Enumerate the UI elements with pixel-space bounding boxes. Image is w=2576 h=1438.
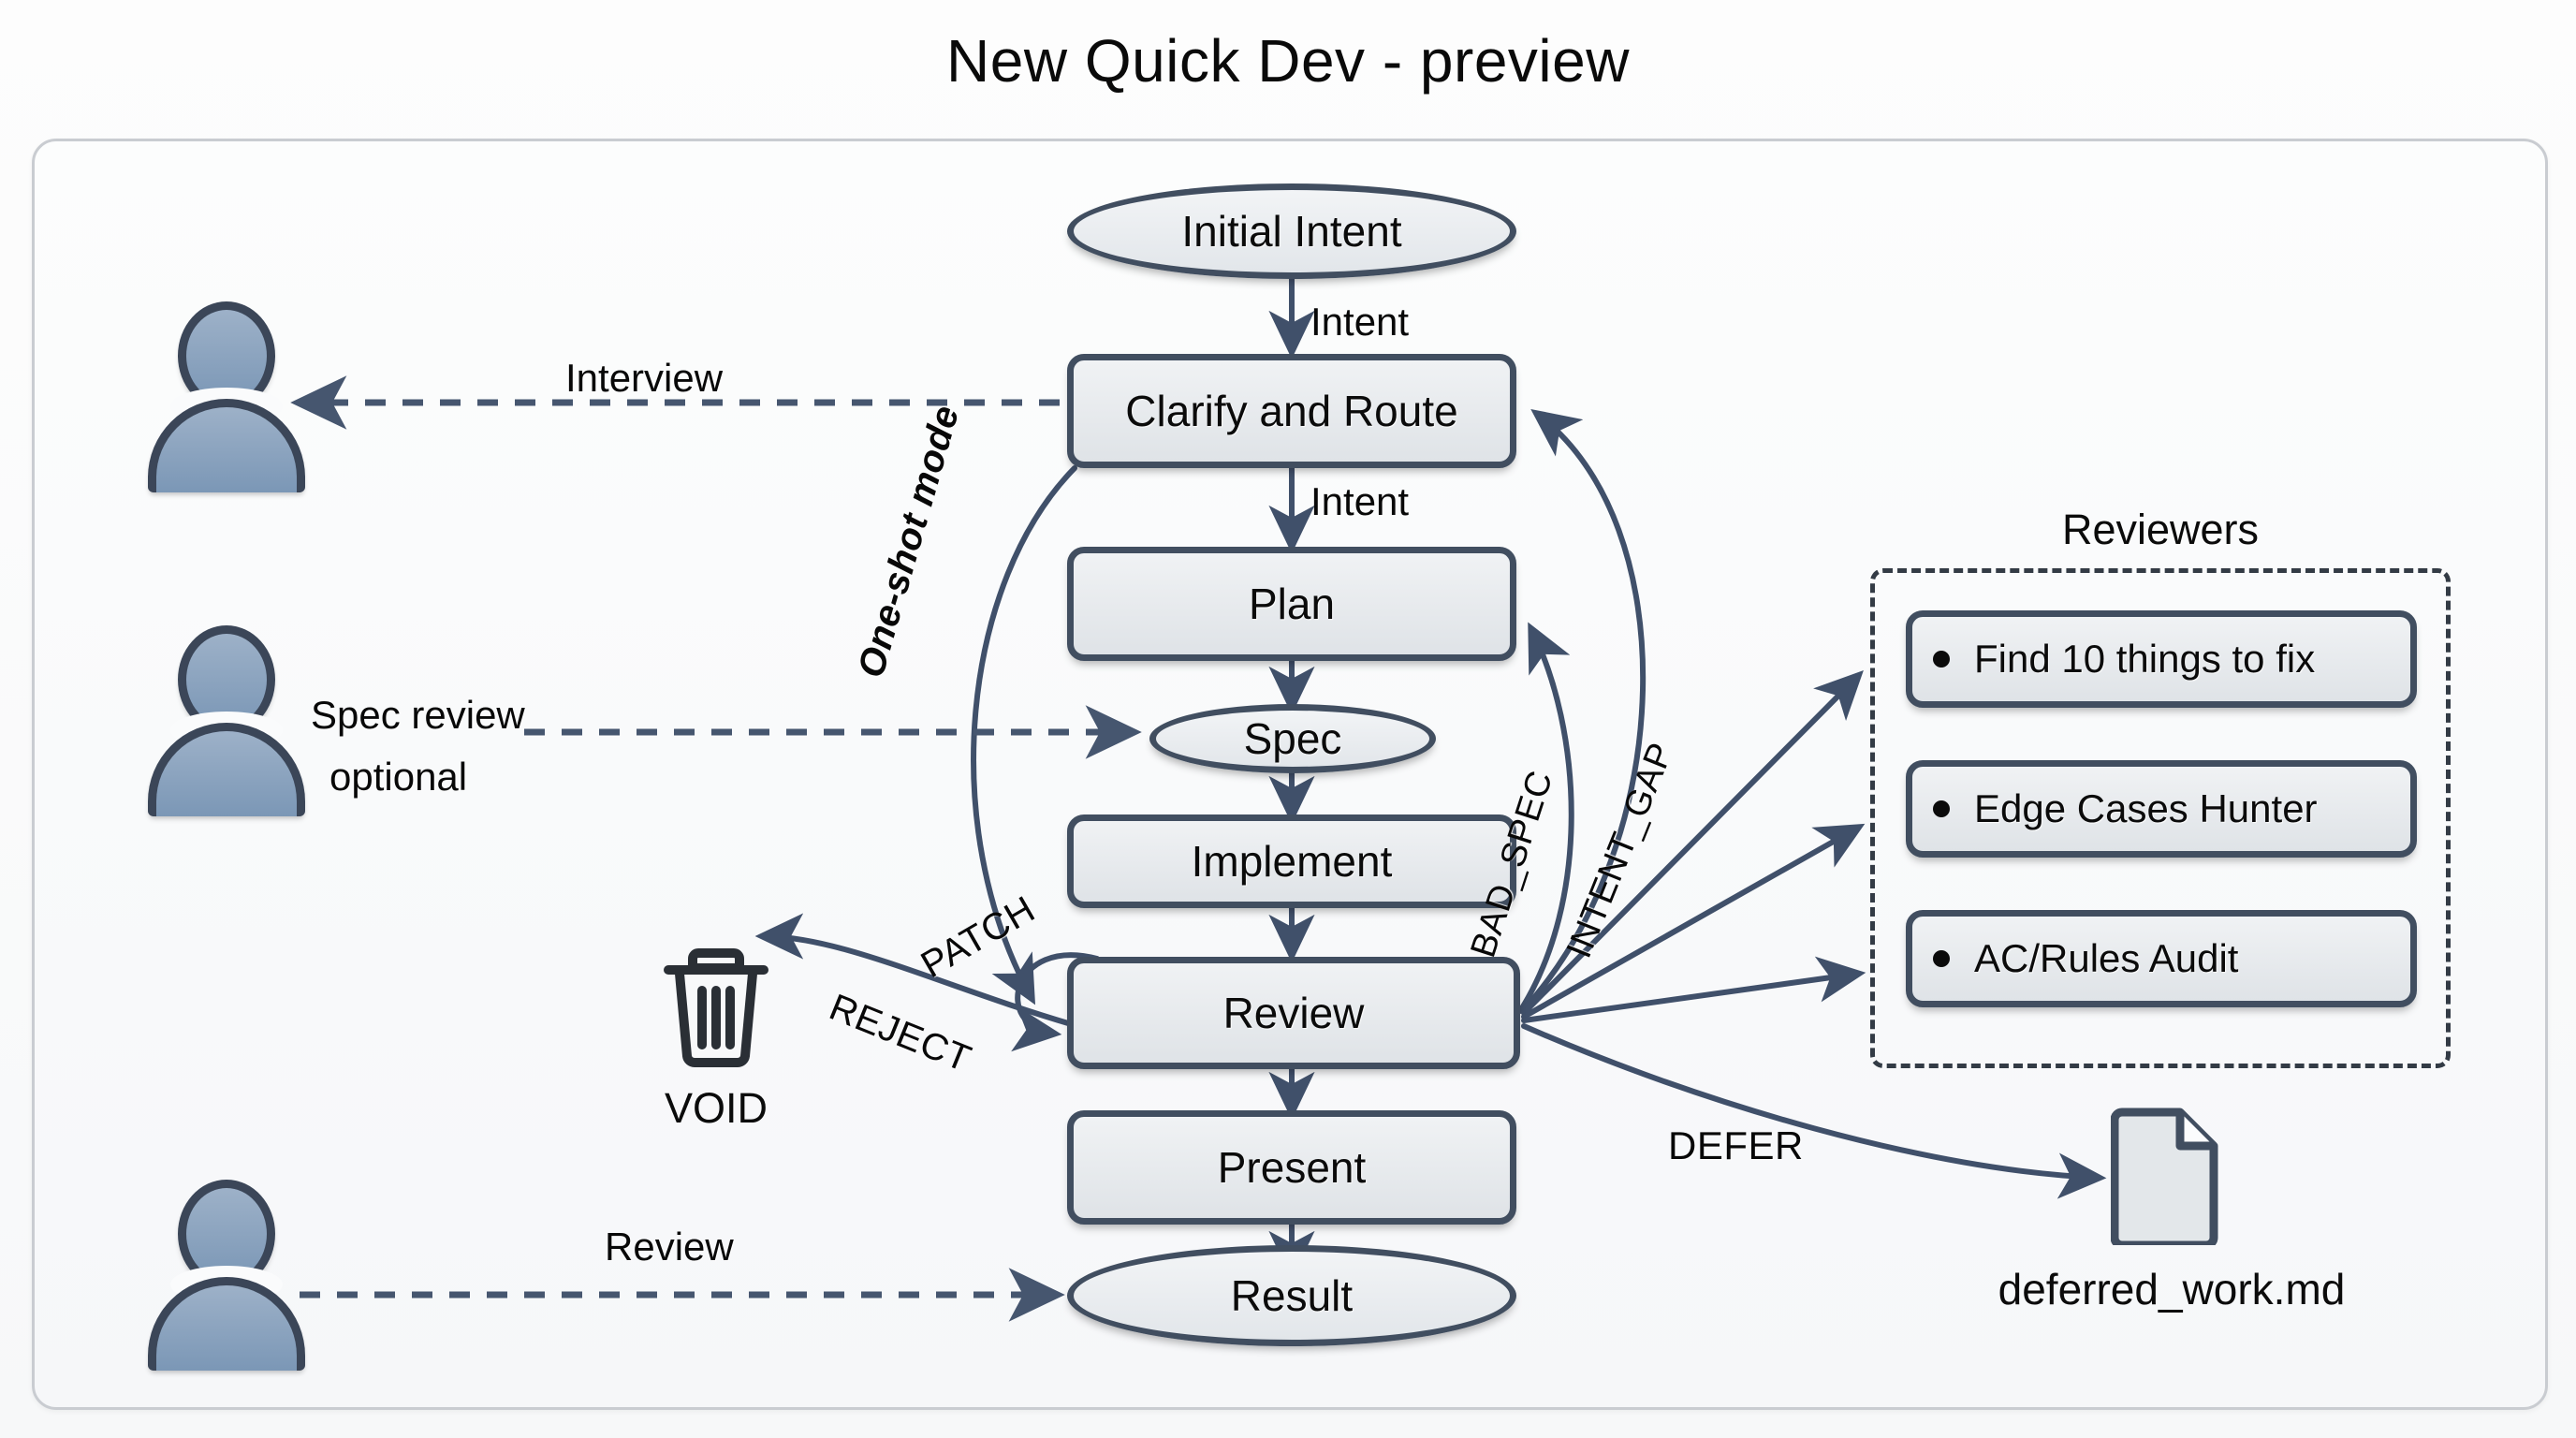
node-label: Result [1231, 1270, 1353, 1321]
node-label: Spec [1244, 713, 1342, 764]
trash-icon[interactable] [655, 936, 777, 1067]
node-implement[interactable]: Implement [1067, 814, 1516, 908]
edge-label-intent-top: Intent [1310, 300, 1409, 345]
node-initial-intent[interactable]: Initial Intent [1067, 183, 1516, 279]
edge-label-defer: DEFER [1668, 1123, 1804, 1168]
document-icon[interactable] [2111, 1105, 2223, 1245]
reviewer-item-edge-cases-hunter[interactable]: Edge Cases Hunter [1906, 760, 2417, 858]
node-spec[interactable]: Spec [1149, 704, 1436, 773]
edge-label-spec-review-line1: Spec review [311, 693, 525, 738]
node-review[interactable]: Review [1067, 957, 1520, 1069]
deferred-file-label: deferred_work.md [1928, 1264, 2415, 1314]
edge-label-review-bottom: Review [605, 1225, 734, 1269]
bullet-icon [1933, 800, 1950, 817]
reviewer-item-find-10-things-to-fix[interactable]: Find 10 things to fix [1906, 610, 2417, 708]
node-label: Clarify and Route [1125, 386, 1457, 436]
edge-label-interview: Interview [565, 356, 723, 401]
node-clarify-and-route[interactable]: Clarify and Route [1067, 354, 1516, 468]
node-label: Initial Intent [1181, 206, 1401, 257]
node-present[interactable]: Present [1067, 1110, 1516, 1225]
node-label: Plan [1249, 579, 1335, 629]
reviewer-item-label: AC/Rules Audit [1974, 936, 2238, 981]
node-label: Review [1223, 988, 1365, 1038]
reviewer-item-label: Find 10 things to fix [1974, 637, 2315, 682]
node-label: Implement [1192, 836, 1393, 887]
actor-interview[interactable] [148, 301, 305, 489]
actor-final-review[interactable] [148, 1180, 305, 1367]
reviewer-item-label: Edge Cases Hunter [1974, 786, 2318, 831]
edge-label-spec-review-line2: optional [329, 755, 467, 800]
edge-label-intent-mid: Intent [1310, 479, 1409, 524]
reviewer-item-ac-rules-audit[interactable]: AC/Rules Audit [1906, 910, 2417, 1007]
bullet-icon [1933, 651, 1950, 668]
node-label: Present [1218, 1142, 1367, 1193]
void-label: VOID [608, 1084, 824, 1133]
bullet-icon [1933, 950, 1950, 967]
actor-spec-review[interactable] [148, 625, 305, 813]
person-body-icon [148, 723, 305, 816]
reviewers-group-title: Reviewers [1870, 506, 2451, 554]
person-body-icon [148, 1277, 305, 1371]
page-title: New Quick Dev - preview [0, 26, 2576, 95]
node-result[interactable]: Result [1067, 1245, 1516, 1346]
person-body-icon [148, 399, 305, 492]
node-plan[interactable]: Plan [1067, 547, 1516, 661]
